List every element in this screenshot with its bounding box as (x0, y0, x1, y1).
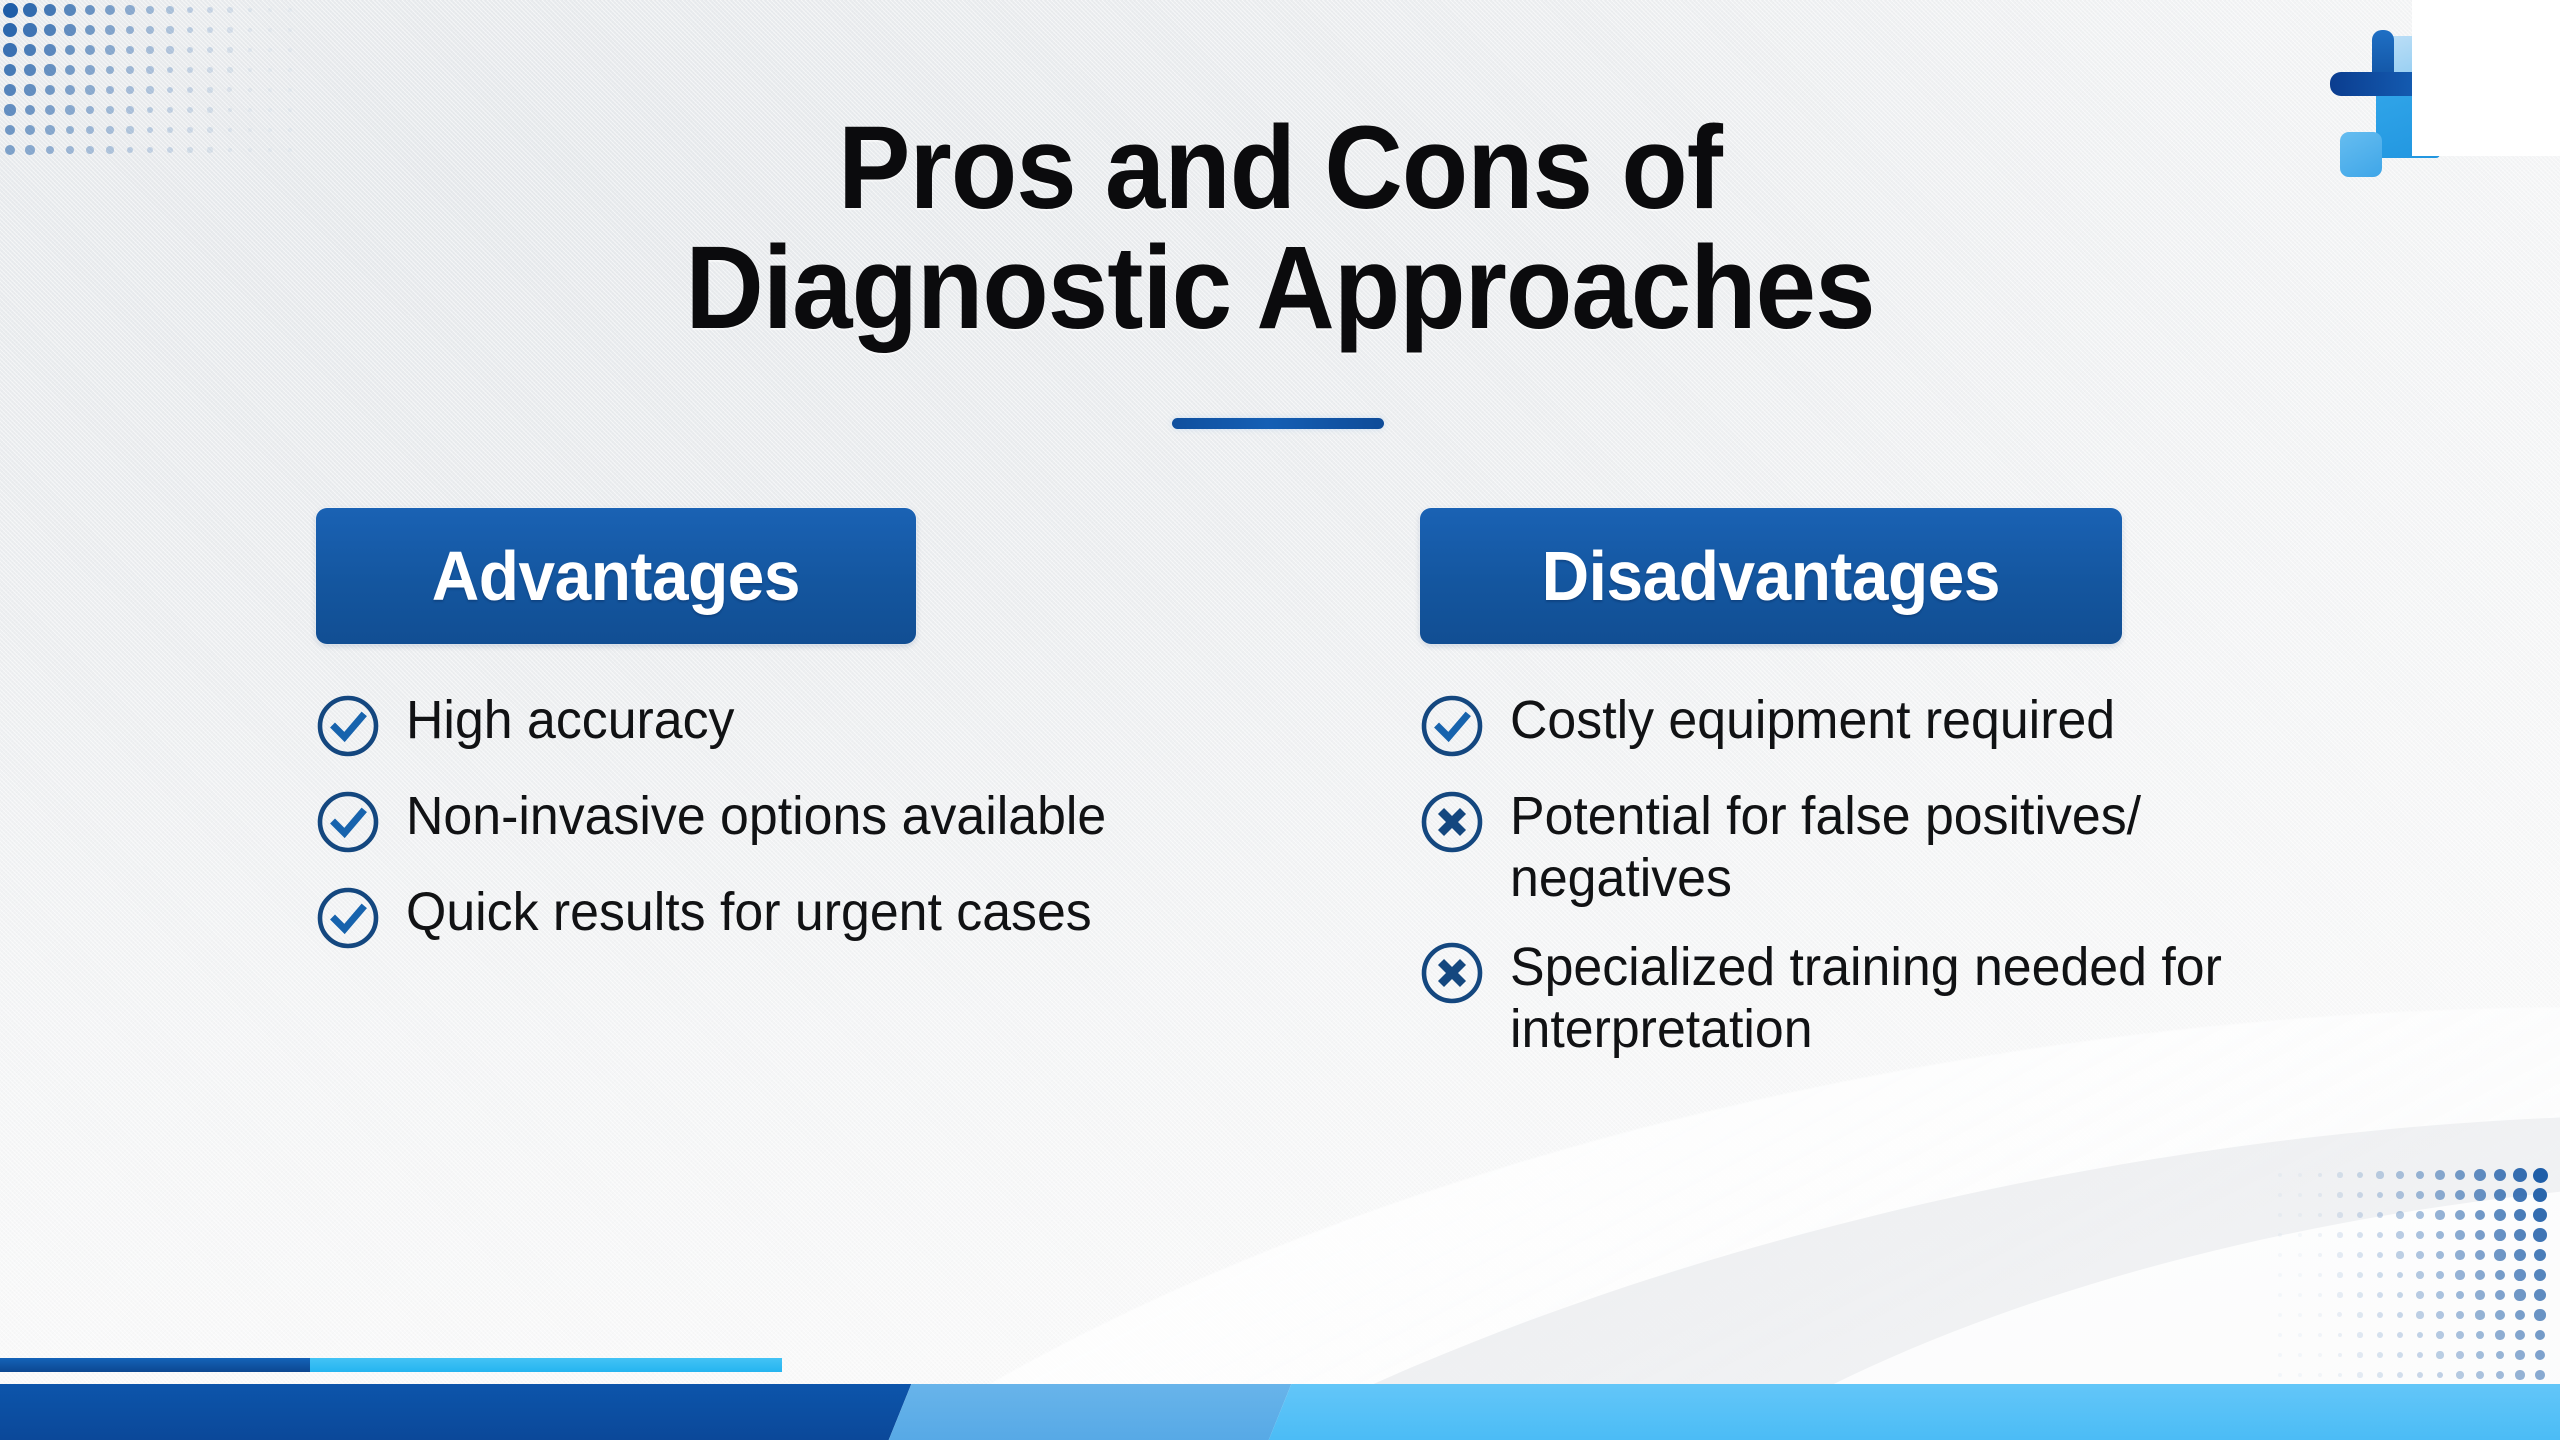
dot (2278, 1193, 2282, 1197)
dot (2436, 1231, 2445, 1240)
dot (2474, 1189, 2485, 1200)
dot (2377, 1192, 2384, 1199)
dot (2357, 1332, 2362, 1337)
dot (2337, 1212, 2342, 1217)
dot (187, 7, 194, 14)
dot (24, 84, 35, 95)
dot (2377, 1212, 2384, 1219)
page-title-line-1: Pros and Cons of (102, 108, 2457, 228)
list-item: Potential for false positives/ negatives (1420, 786, 2420, 909)
dot (2278, 1293, 2282, 1297)
progress-bar (0, 1358, 782, 1372)
dot (2436, 1351, 2443, 1358)
dot (227, 47, 232, 52)
dot (2416, 1251, 2424, 1259)
dot (65, 85, 75, 95)
advantages-badge: Advantages (316, 508, 916, 644)
dot (64, 24, 75, 35)
cross-circle-icon (1420, 790, 1484, 854)
disadvantages-badge-label: Disadvantages (1542, 536, 2000, 616)
dot (288, 88, 292, 92)
dot (126, 46, 134, 54)
dot (2435, 1190, 2444, 1199)
dot (44, 4, 57, 17)
dot (248, 28, 253, 33)
dot (2338, 1373, 2343, 1378)
dot (2338, 1333, 2343, 1338)
dot (2337, 1172, 2343, 1178)
dot (2436, 1251, 2445, 1260)
title-underline-rule (1172, 418, 1384, 429)
progress-bar-remaining (310, 1358, 782, 1372)
dot (2318, 1373, 2322, 1377)
dot (2533, 1228, 2546, 1241)
dot (187, 67, 193, 73)
dot (2357, 1352, 2362, 1357)
dot (2455, 1230, 2465, 1240)
list-item: Quick results for urgent cases (316, 882, 1276, 950)
dot (2396, 1191, 2404, 1199)
dot (2496, 1371, 2505, 1380)
disadvantages-badge: Disadvantages (1420, 508, 2122, 644)
dot (2298, 1253, 2302, 1257)
dot (2436, 1271, 2444, 1279)
dot (105, 45, 114, 54)
dot (2474, 1169, 2486, 1181)
dot (2533, 1168, 2548, 1183)
dot (2377, 1252, 2383, 1258)
dot (2476, 1331, 2485, 1340)
dot (2417, 1332, 2424, 1339)
dot (2435, 1170, 2445, 1180)
disadvantages-list: Costly equipment requiredPotential for f… (1420, 690, 2420, 1060)
dot (2376, 1171, 2383, 1178)
dot (2318, 1313, 2323, 1318)
dot (105, 5, 115, 15)
dot (65, 45, 76, 56)
bottom-band-mid-blue (889, 1384, 1292, 1440)
dot (126, 26, 135, 35)
dot (207, 7, 213, 13)
dot (105, 25, 115, 35)
dot (167, 87, 174, 94)
dot (2417, 1372, 2423, 1378)
dot (44, 24, 56, 36)
dot (2337, 1272, 2342, 1277)
dot (2533, 1188, 2547, 1202)
progress-bar-filled (0, 1358, 310, 1372)
dot (207, 27, 213, 33)
list-item-label: Quick results for urgent cases (406, 882, 1092, 944)
dot (2318, 1333, 2323, 1338)
dot (207, 87, 212, 92)
dot (2357, 1252, 2363, 1258)
dot (2416, 1211, 2424, 1219)
dot (44, 64, 55, 75)
cross-circle-icon (1420, 941, 1484, 1005)
dot (106, 66, 115, 75)
dot (268, 48, 272, 52)
dot (288, 68, 292, 72)
list-item-label: Non-invasive options available (406, 786, 1106, 848)
dot (2357, 1292, 2363, 1298)
page-title: Pros and Cons of Diagnostic Approaches (0, 108, 2560, 349)
dot (2475, 1210, 2486, 1221)
list-item-label: Specialized training needed for interpre… (1510, 937, 2268, 1060)
dot (2298, 1273, 2302, 1277)
dot (2456, 1371, 2463, 1378)
dot (2437, 1372, 2444, 1379)
dot (2494, 1249, 2505, 1260)
advantages-badge-label: Advantages (432, 536, 800, 616)
dot (268, 28, 272, 32)
dot (2456, 1351, 2464, 1359)
dot (85, 5, 96, 16)
dot (2337, 1192, 2342, 1197)
dot (227, 67, 232, 72)
dot (248, 88, 253, 93)
dot (2476, 1371, 2484, 1379)
dot (2455, 1250, 2464, 1259)
dot (2495, 1270, 2506, 1281)
dot (2475, 1290, 2485, 1300)
dot (2298, 1233, 2302, 1237)
dot (166, 26, 173, 33)
dot (106, 86, 114, 94)
dot (146, 6, 154, 14)
dot (248, 8, 253, 13)
dot (2475, 1310, 2484, 1319)
dot (2475, 1230, 2486, 1241)
dot (187, 27, 194, 34)
dot (2514, 1289, 2525, 1300)
dot (2357, 1312, 2362, 1317)
dot (2475, 1250, 2485, 1260)
dot (288, 28, 292, 32)
dot (126, 66, 134, 74)
dot (2456, 1291, 2465, 1300)
dot (2455, 1270, 2464, 1279)
dot (2298, 1333, 2302, 1337)
list-item-label: Potential for false positives/ negatives (1510, 786, 2268, 909)
dot (2298, 1173, 2302, 1177)
list-item: High accuracy (316, 690, 1276, 758)
dot (85, 85, 94, 94)
bottom-banner (0, 1384, 2560, 1440)
dot (2535, 1350, 2545, 1360)
dot (2513, 1188, 2526, 1201)
dot (2436, 1331, 2444, 1339)
dot (2298, 1373, 2302, 1377)
dot (4, 64, 17, 77)
dot (2298, 1353, 2302, 1357)
dot (2377, 1372, 2383, 1378)
dot (2318, 1253, 2323, 1258)
dot (268, 8, 272, 12)
dot (2357, 1192, 2363, 1198)
dot-grid-bottom-right-icon (2270, 1165, 2560, 1380)
dot (2357, 1212, 2363, 1218)
dot (227, 7, 232, 12)
dot (2534, 1249, 2547, 1262)
dot (24, 44, 37, 57)
dot (2396, 1251, 2403, 1258)
dot (2318, 1213, 2323, 1218)
dot (2515, 1350, 2525, 1360)
slide-canvas: Pros and Cons of Diagnostic Approaches A… (0, 0, 2560, 1440)
dot (2298, 1193, 2302, 1197)
dot (2515, 1330, 2525, 1340)
list-item-label: Costly equipment required (1510, 690, 2115, 752)
dot (207, 67, 213, 73)
dot (2377, 1352, 2383, 1358)
dot (2318, 1173, 2323, 1178)
dot (2515, 1370, 2524, 1379)
dot (3, 43, 17, 57)
dot (2357, 1172, 2363, 1178)
advantages-column: Advantages High accuracyNon-invasive opt… (316, 508, 1276, 978)
dot (2435, 1210, 2444, 1219)
dot (2357, 1232, 2363, 1238)
list-item-label: High accuracy (406, 690, 734, 752)
dot (2278, 1213, 2282, 1217)
dot (2495, 1330, 2504, 1339)
dot (2416, 1271, 2424, 1279)
dot (2534, 1269, 2546, 1281)
dot (2278, 1273, 2282, 1277)
dot (2494, 1169, 2507, 1182)
dot (2534, 1289, 2546, 1301)
bottom-band-navy (0, 1384, 911, 1440)
advantages-list: High accuracyNon-invasive options availa… (316, 690, 1276, 950)
dot (2514, 1229, 2526, 1241)
dot (248, 68, 253, 73)
dot (2397, 1292, 2404, 1299)
dot (2475, 1270, 2485, 1280)
dot (2397, 1332, 2403, 1338)
dot (2417, 1352, 2424, 1359)
dot (2377, 1312, 2383, 1318)
dot (2337, 1292, 2342, 1297)
dot (2357, 1272, 2363, 1278)
dot (2397, 1352, 2403, 1358)
dot (125, 5, 134, 14)
dot (146, 86, 153, 93)
dot (2494, 1189, 2506, 1201)
dot (2416, 1171, 2425, 1180)
dot (2377, 1292, 2383, 1298)
dot (2318, 1193, 2323, 1198)
dot (2396, 1171, 2404, 1179)
dot (2377, 1272, 2383, 1278)
dot (187, 87, 193, 93)
dot (2298, 1313, 2302, 1317)
dot (288, 8, 292, 12)
dot (288, 48, 292, 52)
dot (2515, 1310, 2526, 1321)
dot (2337, 1252, 2342, 1257)
dot (2318, 1273, 2323, 1278)
dot (248, 48, 253, 53)
dot (187, 47, 193, 53)
dot (2278, 1173, 2282, 1177)
dot (4, 84, 16, 96)
disadvantages-column: Disadvantages Costly equipment requiredP… (1420, 508, 2420, 1088)
dot (85, 65, 95, 75)
dot (146, 66, 153, 73)
dot (2278, 1253, 2282, 1257)
dot (207, 47, 213, 53)
dot (2416, 1291, 2423, 1298)
dot (2298, 1213, 2302, 1217)
page-title-line-2: Diagnostic Approaches (102, 228, 2457, 348)
dot (2495, 1310, 2505, 1320)
bottom-band-light-blue (1269, 1384, 2560, 1440)
dot (2318, 1233, 2323, 1238)
dot (2416, 1311, 2423, 1318)
dot (2514, 1269, 2526, 1281)
dot (2337, 1312, 2342, 1317)
dot (24, 64, 36, 76)
check-circle-icon (1420, 694, 1484, 758)
dot (2278, 1233, 2282, 1237)
dot (85, 45, 95, 55)
check-circle-icon (316, 694, 380, 758)
list-item: Non-invasive options available (316, 786, 1276, 854)
dot (166, 6, 174, 14)
check-circle-icon (316, 790, 380, 854)
list-item: Specialized training needed for interpre… (1420, 937, 2420, 1060)
dot (167, 67, 174, 74)
dot (2535, 1330, 2546, 1341)
dot (227, 87, 232, 92)
dot (3, 3, 18, 18)
dot (64, 4, 76, 16)
dot (2298, 1293, 2302, 1297)
dot (2278, 1313, 2282, 1317)
dot (2416, 1191, 2425, 1200)
dot (166, 46, 173, 53)
dot (2318, 1293, 2323, 1298)
dot (2494, 1209, 2506, 1221)
dot (2534, 1309, 2545, 1320)
dot (146, 46, 154, 54)
dot (2476, 1351, 2484, 1359)
dot (2455, 1210, 2465, 1220)
dot (2416, 1231, 2424, 1239)
list-item: Costly equipment required (1420, 690, 2420, 758)
dot (2514, 1249, 2526, 1261)
dot (65, 65, 75, 75)
check-circle-icon (316, 886, 380, 950)
dot (2337, 1232, 2342, 1237)
dot (2278, 1373, 2282, 1377)
dot (2397, 1372, 2403, 1378)
dot (45, 85, 56, 96)
dot (2278, 1353, 2282, 1357)
dot (2456, 1311, 2464, 1319)
dot (3, 23, 17, 37)
dot (2436, 1311, 2444, 1319)
dot (2318, 1353, 2323, 1358)
dot (2357, 1372, 2362, 1377)
dot (2436, 1291, 2444, 1299)
dot (2397, 1272, 2404, 1279)
dot (23, 23, 36, 36)
dot (268, 88, 272, 92)
dot (2535, 1370, 2545, 1380)
dot (268, 68, 272, 72)
dot (2514, 1209, 2527, 1222)
dot (2396, 1231, 2403, 1238)
dot (2338, 1353, 2343, 1358)
dot (227, 27, 232, 32)
dot (44, 44, 56, 56)
dot (2377, 1232, 2384, 1239)
dot (2455, 1170, 2466, 1181)
dot (2278, 1333, 2282, 1337)
dot (2396, 1211, 2404, 1219)
dot (2377, 1332, 2383, 1338)
dot (2455, 1190, 2465, 1200)
dot (23, 3, 37, 17)
dot (2456, 1331, 2464, 1339)
dot (126, 86, 134, 94)
dot (2496, 1351, 2505, 1360)
dot (2494, 1229, 2506, 1241)
dot (2513, 1168, 2527, 1182)
dot (146, 26, 154, 34)
dot (2397, 1312, 2404, 1319)
dot (85, 25, 96, 36)
dot (2533, 1208, 2547, 1222)
dot (2495, 1290, 2505, 1300)
